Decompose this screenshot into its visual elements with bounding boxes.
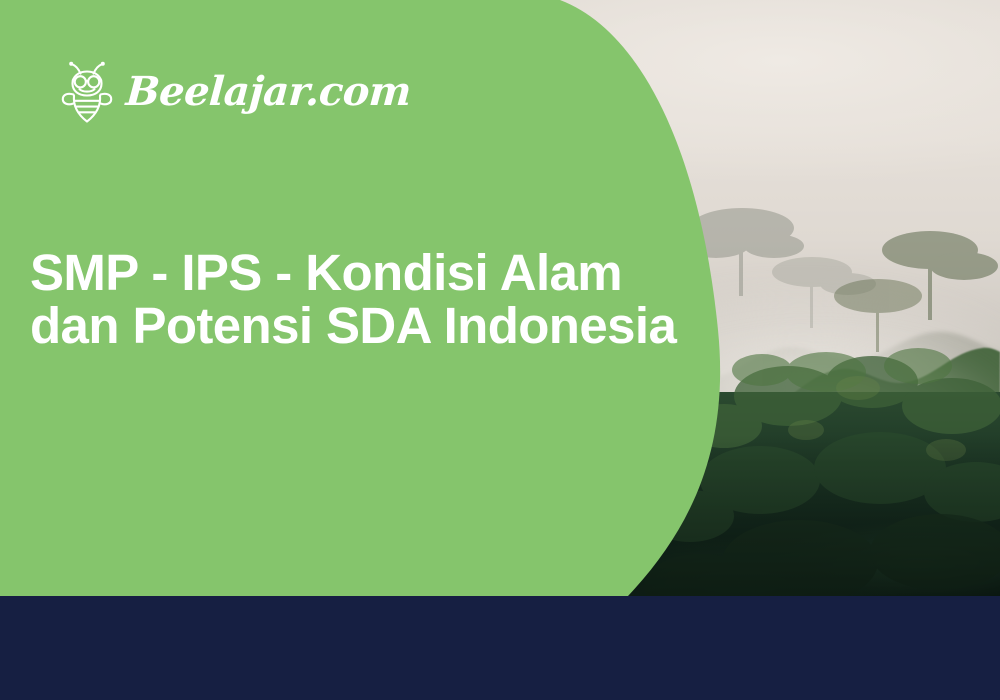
hero-banner-card: Beelajar.com SMP - IPS - Kondisi Alam da… — [0, 0, 1000, 700]
bee-mascot-icon — [58, 61, 116, 123]
brand-logo[interactable]: Beelajar.com — [58, 60, 411, 124]
bottom-navy-bar — [0, 596, 1000, 700]
brand-wordmark: Beelajar.com — [125, 72, 413, 112]
page-title: SMP - IPS - Kondisi Alam dan Potensi SDA… — [30, 246, 710, 352]
